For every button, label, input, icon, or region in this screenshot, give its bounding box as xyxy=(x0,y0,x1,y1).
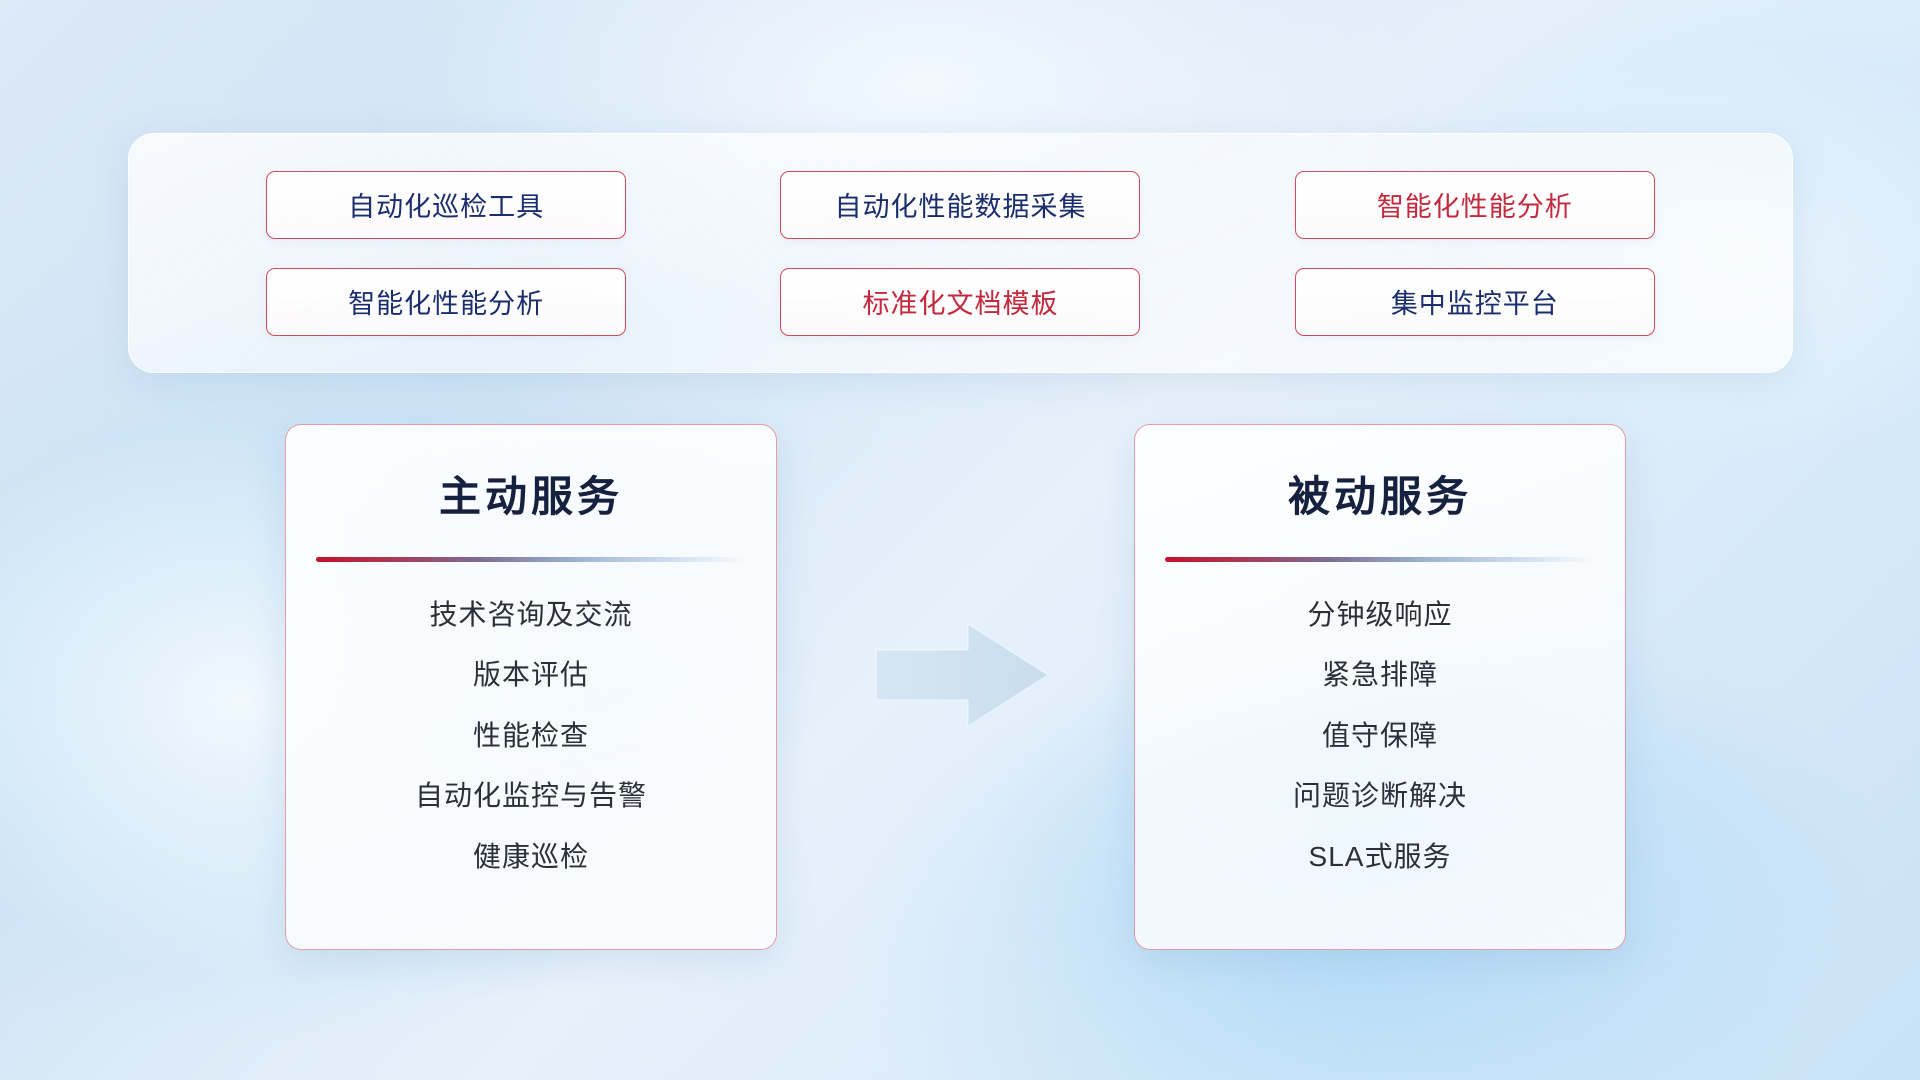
service-card-reactive: 被动服务 分钟级响应 紧急排障 值守保障 问题诊断解决 SLA式服务 xyxy=(1134,424,1626,950)
capability-tag[interactable]: 自动化性能数据采集 xyxy=(780,171,1140,239)
card-divider xyxy=(1165,557,1595,562)
list-item: 问题诊断解决 xyxy=(1165,781,1595,810)
capability-tag[interactable]: 智能化性能分析 xyxy=(266,268,626,336)
card-divider xyxy=(316,557,746,562)
list-item: SLA式服务 xyxy=(1165,842,1595,871)
right-arrow-icon xyxy=(872,620,1052,730)
list-item: 性能检查 xyxy=(316,721,746,750)
list-item: 健康巡检 xyxy=(316,842,746,871)
list-item: 值守保障 xyxy=(1165,721,1595,750)
card-title: 被动服务 xyxy=(1165,463,1595,524)
card-title: 主动服务 xyxy=(316,463,746,524)
list-item: 自动化监控与告警 xyxy=(316,781,746,810)
capability-tag[interactable]: 集中监控平台 xyxy=(1295,268,1655,336)
card-item-list: 技术咨询及交流 版本评估 性能检查 自动化监控与告警 健康巡检 xyxy=(316,600,746,871)
capability-tag[interactable]: 智能化性能分析 xyxy=(1295,171,1655,239)
list-item: 版本评估 xyxy=(316,660,746,689)
capability-tag[interactable]: 自动化巡检工具 xyxy=(266,171,626,239)
list-item: 分钟级响应 xyxy=(1165,600,1595,629)
list-item: 技术咨询及交流 xyxy=(316,600,746,629)
capability-tag[interactable]: 标准化文档模板 xyxy=(780,268,1140,336)
card-item-list: 分钟级响应 紧急排障 值守保障 问题诊断解决 SLA式服务 xyxy=(1165,600,1595,871)
capability-tag-grid: 自动化巡检工具 自动化性能数据采集 智能化性能分析 智能化性能分析 标准化文档模… xyxy=(129,134,1792,372)
list-item: 紧急排障 xyxy=(1165,660,1595,689)
service-card-proactive: 主动服务 技术咨询及交流 版本评估 性能检查 自动化监控与告警 健康巡检 xyxy=(285,424,777,950)
capability-panel: 自动化巡检工具 自动化性能数据采集 智能化性能分析 智能化性能分析 标准化文档模… xyxy=(128,133,1793,373)
